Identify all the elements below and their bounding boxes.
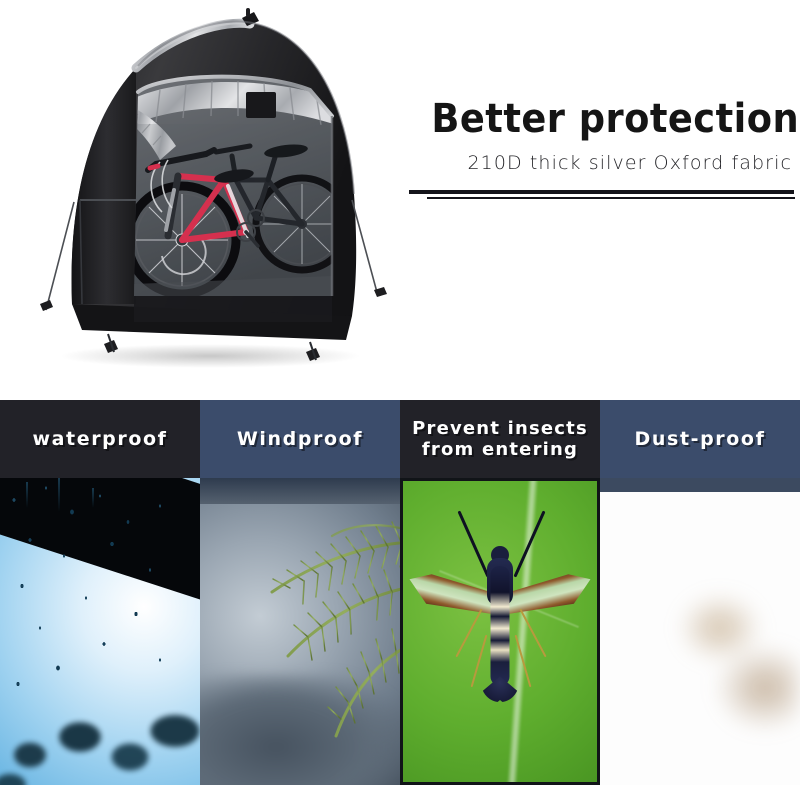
- divider-rule-upper: [409, 190, 794, 194]
- feature-label-text: Windproof: [231, 428, 369, 450]
- water-streaks: [0, 478, 200, 548]
- headline-block: Better protection 210D thick silver Oxfo…: [400, 96, 792, 175]
- feature-label-waterproof: waterproof: [0, 400, 200, 478]
- feature-photo-windproof: [200, 478, 400, 785]
- feature-label-text: Dust-proof: [629, 428, 772, 450]
- feature-photo-waterproof: [0, 478, 200, 785]
- hero-section: Better protection 210D thick silver Oxfo…: [0, 0, 800, 400]
- page-subtitle: 210D thick silver Oxford fabric: [400, 151, 792, 175]
- feature-photo-dust-proof: [600, 478, 800, 785]
- feature-label-line-1: Prevent insects: [412, 418, 588, 439]
- feature-label-prevent-insects: Prevent insects from entering: [400, 400, 600, 478]
- product-photo-bike-tent: [10, 4, 390, 372]
- feature-photo-prevent-insects: [400, 478, 600, 785]
- feature-label-text: waterproof: [26, 428, 173, 450]
- feature-label-windproof: Windproof: [200, 400, 400, 478]
- photo-frame-border: [400, 478, 600, 785]
- feature-label-text: Prevent insects from entering: [406, 418, 594, 460]
- feature-label-dust-proof: Dust-proof: [600, 400, 800, 478]
- page-title: Better protection: [431, 96, 792, 142]
- dust-cloud-haze: [600, 478, 800, 785]
- feature-label-band: waterproof Windproof Prevent insects fro…: [0, 400, 800, 478]
- feature-label-line-2: from entering: [422, 439, 578, 460]
- palm-tree: [200, 500, 400, 750]
- dust-photo-top-band: [600, 478, 800, 492]
- feature-photo-strip: [0, 478, 800, 785]
- divider-rule-lower: [427, 197, 795, 199]
- product-marketing-page: Better protection 210D thick silver Oxfo…: [0, 0, 800, 800]
